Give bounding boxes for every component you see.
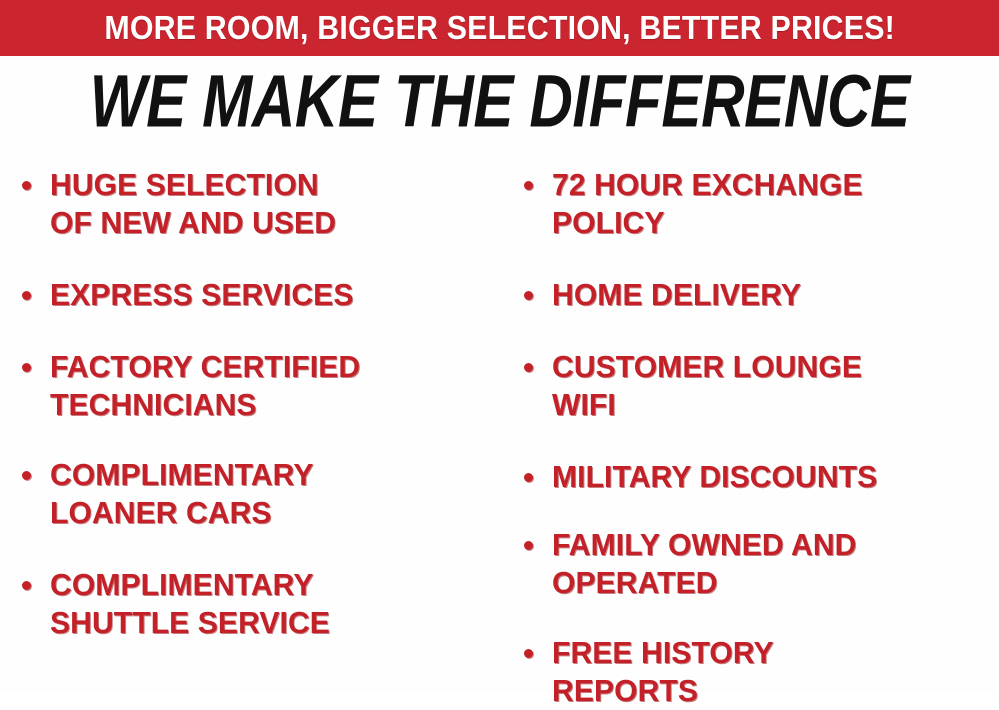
promo-banner: MORE ROOM, BIGGER SELECTION, BETTER PRIC… [0, 0, 999, 56]
feature-item: COMPLIMENTARY LOANER CARS [10, 456, 505, 532]
bullet-dot-icon [22, 581, 31, 590]
bullet-dot-icon [524, 649, 533, 658]
bullet-dot-icon [524, 363, 533, 372]
feature-item: FREE HISTORY REPORTS [510, 634, 999, 710]
bullet-dot-icon [524, 473, 533, 482]
feature-item: MILITARY DISCOUNTS [510, 458, 999, 496]
bullet-dot-icon [22, 471, 31, 480]
features-column-right: 72 HOUR EXCHANGE POLICY HOME DELIVERY CU… [510, 158, 999, 692]
bullet-dot-icon [524, 291, 533, 300]
advertisement-banner: MORE ROOM, BIGGER SELECTION, BETTER PRIC… [0, 0, 999, 692]
bullet-dot-icon [524, 181, 533, 190]
feature-item: 72 HOUR EXCHANGE POLICY [510, 166, 999, 242]
feature-label: FREE HISTORY REPORTS [552, 634, 986, 710]
feature-item: HUGE SELECTION OF NEW AND USED [10, 166, 505, 242]
feature-item: EXPRESS SERVICES [10, 276, 505, 314]
page-title: WE MAKE THE DIFFERENCE [90, 63, 910, 139]
feature-label: EXPRESS SERVICES [50, 276, 491, 314]
feature-label: COMPLIMENTARY LOANER CARS [50, 456, 491, 532]
feature-item: COMPLIMENTARY SHUTTLE SERVICE [10, 566, 505, 642]
feature-item: HOME DELIVERY [510, 276, 999, 314]
feature-label: HUGE SELECTION OF NEW AND USED [50, 166, 491, 242]
bullet-dot-icon [22, 363, 31, 372]
feature-label: MILITARY DISCOUNTS [552, 458, 986, 496]
bullet-dot-icon [22, 291, 31, 300]
feature-item: FAMILY OWNED AND OPERATED [510, 526, 999, 602]
bullet-dot-icon [524, 541, 533, 550]
feature-item: CUSTOMER LOUNGE WIFI [510, 348, 999, 424]
feature-label: HOME DELIVERY [552, 276, 986, 314]
feature-label: COMPLIMENTARY SHUTTLE SERVICE [50, 566, 491, 642]
promo-banner-text: MORE ROOM, BIGGER SELECTION, BETTER PRIC… [104, 11, 895, 45]
headline-container: WE MAKE THE DIFFERENCE [0, 63, 999, 135]
feature-label: CUSTOMER LOUNGE WIFI [552, 348, 986, 424]
feature-label: FAMILY OWNED AND OPERATED [552, 526, 986, 602]
bullet-dot-icon [22, 181, 31, 190]
features-column-left: HUGE SELECTION OF NEW AND USED EXPRESS S… [10, 158, 505, 692]
feature-label: 72 HOUR EXCHANGE POLICY [552, 166, 986, 242]
features-columns: HUGE SELECTION OF NEW AND USED EXPRESS S… [0, 158, 999, 692]
feature-item: FACTORY CERTIFIED TECHNICIANS [10, 348, 505, 424]
feature-label: FACTORY CERTIFIED TECHNICIANS [50, 348, 491, 424]
